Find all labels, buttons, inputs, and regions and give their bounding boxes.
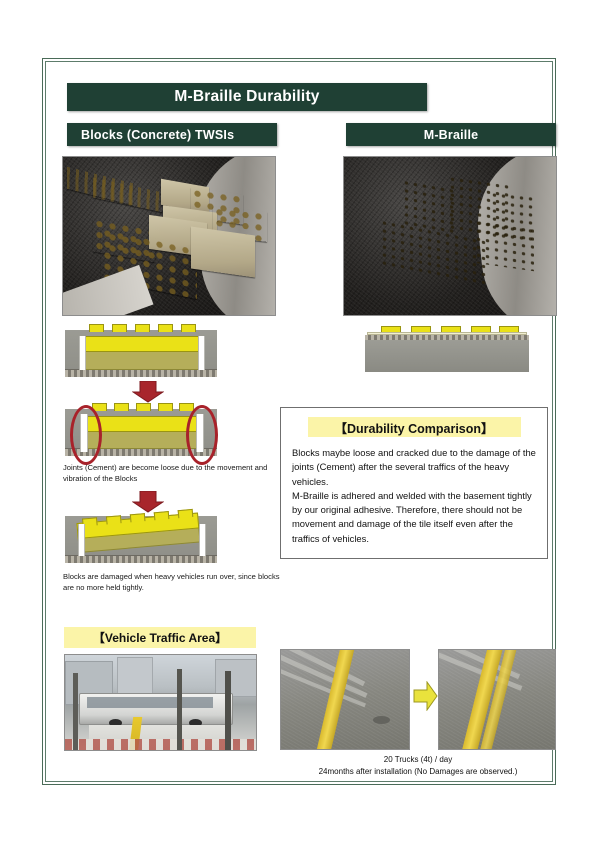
photo-road-before: [280, 649, 410, 750]
durability-comparison-box: 【Durability Comparison】 Blocks maybe loo…: [280, 407, 548, 559]
column-header-blocks: Blocks (Concrete) TWSIs: [67, 123, 277, 146]
caption-blocks-damaged: Blocks are damaged when heavy vehicles r…: [63, 572, 288, 594]
road-stain: [373, 716, 390, 724]
cement-joint-right-broken: [199, 524, 206, 556]
block-nub: [106, 515, 122, 524]
caption-line-1: 20 Trucks (4t) / day: [280, 754, 556, 766]
pole-right: [225, 671, 231, 751]
bus-windows: [87, 697, 213, 708]
mortar-bed: [65, 555, 217, 563]
block-lower-body: [87, 430, 197, 449]
photo-mbraille-installation: [343, 156, 557, 316]
pole-left: [73, 673, 78, 751]
block-nub: [178, 509, 194, 518]
pole-center: [177, 669, 182, 751]
comparison-paragraph-2: M-Braille is adhered and welded with the…: [292, 489, 536, 546]
tile-pale: [191, 227, 255, 278]
block-nub: [135, 324, 150, 332]
comparison-body: Blocks maybe loose and cracked due to th…: [281, 437, 547, 546]
mortar-bed: [65, 369, 217, 377]
mbraille-nub: [471, 326, 491, 332]
block-nub: [114, 403, 129, 411]
diagram-blocks-loose-joints: [65, 409, 217, 456]
block-nub: [181, 324, 196, 332]
photo-concrete-block-twsis: [62, 156, 276, 316]
diagram-blocks-damaged: [65, 516, 217, 563]
document-page-frame: M-Braille Durability Blocks (Concrete) T…: [42, 58, 556, 785]
block-nub: [136, 403, 151, 411]
photo-road-after: [438, 649, 556, 750]
mbraille-nub: [499, 326, 519, 332]
building-right: [215, 659, 257, 697]
cement-joint-left: [79, 336, 86, 370]
vehicle-traffic-area-title: 【Vehicle Traffic Area】: [64, 627, 256, 648]
block-nub: [89, 324, 104, 332]
comparison-title: 【Durability Comparison】: [308, 417, 521, 437]
mbraille-nub: [381, 326, 401, 332]
block-nub: [158, 403, 173, 411]
caption-line-2: 24months after installation (No Damages …: [280, 766, 556, 778]
caption-joints-loose: Joints (Cement) are become loose due to …: [63, 463, 288, 485]
block-upper-body: [83, 336, 201, 352]
cement-joint-left-broken: [78, 524, 85, 556]
adhesive-welded-layer: [365, 335, 529, 340]
annotation-oval-right: [186, 405, 218, 465]
mbraille-tile-sheet: [367, 332, 527, 335]
block-lower-body: [83, 350, 201, 370]
concrete-basement: [365, 340, 529, 372]
block-nub: [130, 513, 146, 522]
mbraille-mat-section: [474, 219, 534, 271]
annotation-oval-left: [70, 405, 102, 465]
transition-arrow-icon: [413, 681, 438, 711]
diagram-blocks-intact: [65, 330, 217, 377]
comparison-paragraph-1: Blocks maybe loose and cracked due to th…: [292, 446, 536, 489]
photo-bus-crossing: [64, 654, 257, 751]
block-nub: [112, 324, 127, 332]
block-nub: [158, 324, 173, 332]
vehicle-traffic-caption: 20 Trucks (4t) / day 24months after inst…: [280, 754, 556, 778]
diagram-mbraille-section: [365, 332, 529, 372]
page-title: M-Braille Durability: [67, 83, 427, 111]
mbraille-nub: [441, 326, 461, 332]
mbraille-nub: [411, 326, 431, 332]
block-upper-body: [87, 416, 197, 432]
column-header-mbraille: M-Braille: [346, 123, 556, 146]
block-nub: [154, 511, 170, 520]
cement-joint-right: [198, 336, 205, 370]
